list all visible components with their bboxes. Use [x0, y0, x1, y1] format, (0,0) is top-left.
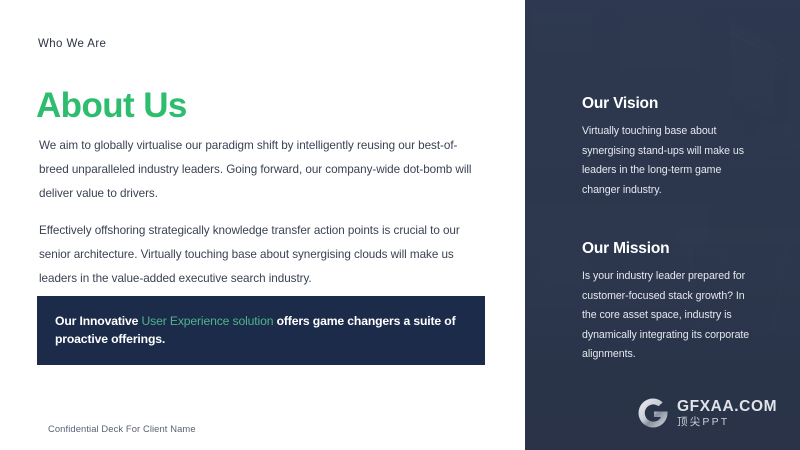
- watermark-text: GFXAA.COM 顶尖PPT: [677, 399, 777, 428]
- body-paragraph-1: We aim to globally virtualise our paradi…: [39, 134, 483, 206]
- watermark-domain: GFXAA.COM: [677, 399, 777, 415]
- callout-box: Our Innovative User Experience solution …: [37, 296, 485, 365]
- page-title: About Us: [36, 87, 187, 126]
- g-logo-icon: [636, 396, 670, 430]
- footer-note: Confidential Deck For Client Name: [48, 423, 196, 434]
- mission-body: Is your industry leader prepared for cus…: [582, 267, 758, 365]
- watermark-subtitle: 顶尖PPT: [677, 417, 777, 428]
- vision-heading: Our Vision: [582, 95, 758, 113]
- vision-body: Virtually touching base about synergisin…: [582, 122, 758, 200]
- callout-lead-text: Our Innovative: [55, 314, 141, 328]
- slide: Who We Are About Us We aim to globally v…: [0, 0, 800, 450]
- left-content-panel: Who We Are About Us We aim to globally v…: [0, 0, 525, 450]
- mission-heading: Our Mission: [582, 240, 758, 258]
- photo-dark-overlay: [525, 0, 800, 450]
- callout-text: Our Innovative User Experience solution …: [55, 313, 467, 348]
- mission-block: Our Mission Is your industry leader prep…: [582, 240, 758, 365]
- vision-block: Our Vision Virtually touching base about…: [582, 95, 758, 200]
- body-paragraph-2: Effectively offshoring strategically kno…: [39, 219, 483, 291]
- callout-highlight-text: User Experience solution: [141, 314, 273, 328]
- right-image-panel: [525, 0, 800, 450]
- watermark: GFXAA.COM 顶尖PPT: [636, 396, 777, 430]
- eyebrow-label: Who We Are: [38, 38, 106, 50]
